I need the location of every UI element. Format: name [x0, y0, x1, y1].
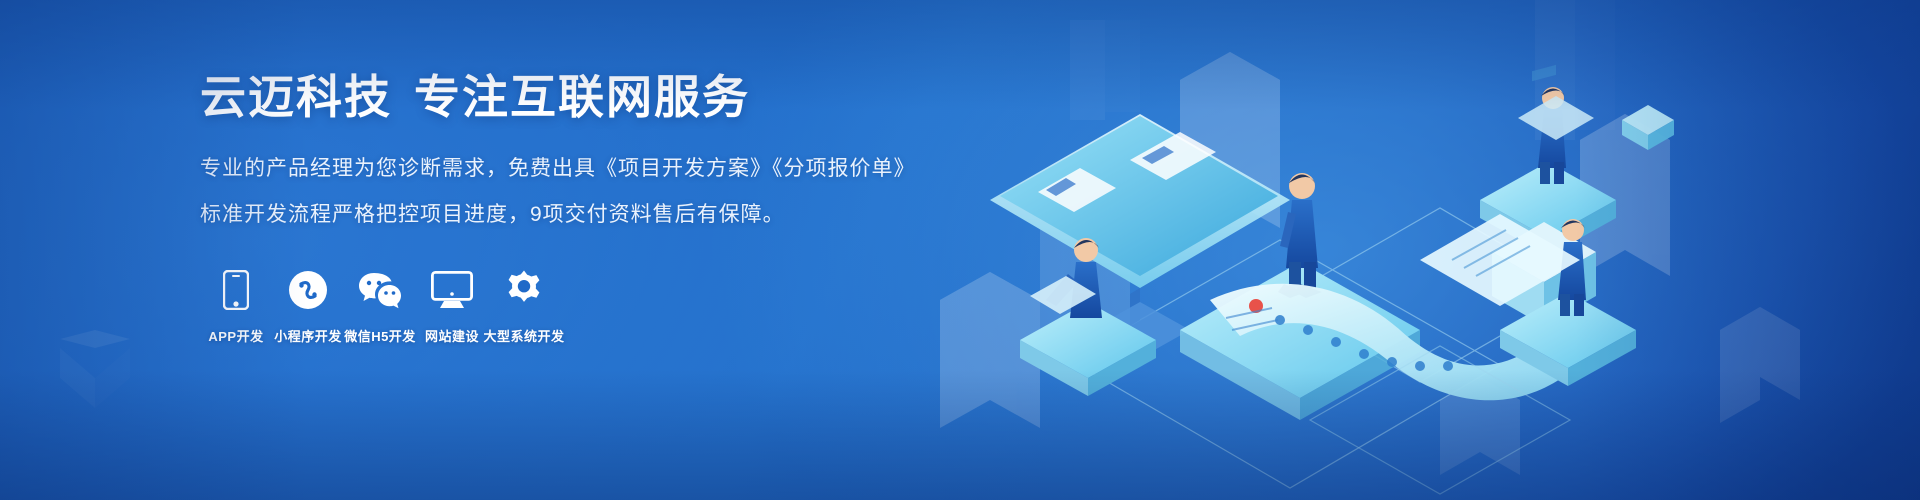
isometric-illustration: [880, 0, 1920, 500]
service-label: 网站建设: [425, 326, 479, 345]
wechat-icon: [358, 268, 402, 312]
hero-banner: 云迈科技专注互联网服务 专业的产品经理为您诊断需求，免费出具《项目开发方案》《分…: [0, 0, 1920, 500]
subtitle-line-1: 专业的产品经理为您诊断需求，免费出具《项目开发方案》《分项报价单》: [200, 152, 920, 186]
monitor-icon: [431, 268, 473, 312]
service-label: 微信H5开发: [344, 326, 416, 345]
service-item-app[interactable]: APP开发: [200, 268, 272, 345]
service-item-system[interactable]: 大型系统开发: [488, 268, 560, 345]
service-label: 小程序开发: [274, 326, 342, 345]
decor-cube: [60, 330, 130, 410]
service-label: 大型系统开发: [484, 326, 565, 345]
service-item-wechat[interactable]: 微信H5开发: [344, 268, 416, 345]
title-part-2: 专注互联网服务: [414, 71, 750, 123]
gear-icon: [504, 268, 544, 312]
hero-content: 云迈科技专注互联网服务 专业的产品经理为您诊断需求，免费出具《项目开发方案》《分…: [200, 70, 920, 345]
service-label: APP开发: [208, 326, 263, 345]
title-part-1: 云迈科技: [200, 71, 392, 123]
subtitle-line-2: 标准开发流程严格把控项目进度，9项交付资料售后有保障。: [200, 198, 920, 232]
service-list: APP开发 小程序开发: [200, 268, 920, 345]
mini-program-icon: [288, 268, 328, 312]
page-title: 云迈科技专注互联网服务: [200, 70, 920, 124]
mobile-phone-icon: [223, 268, 249, 312]
hero-subtitle: 专业的产品经理为您诊断需求，免费出具《项目开发方案》《分项报价单》 标准开发流程…: [200, 152, 920, 232]
service-item-miniprogram[interactable]: 小程序开发: [272, 268, 344, 345]
service-item-website[interactable]: 网站建设: [416, 268, 488, 345]
